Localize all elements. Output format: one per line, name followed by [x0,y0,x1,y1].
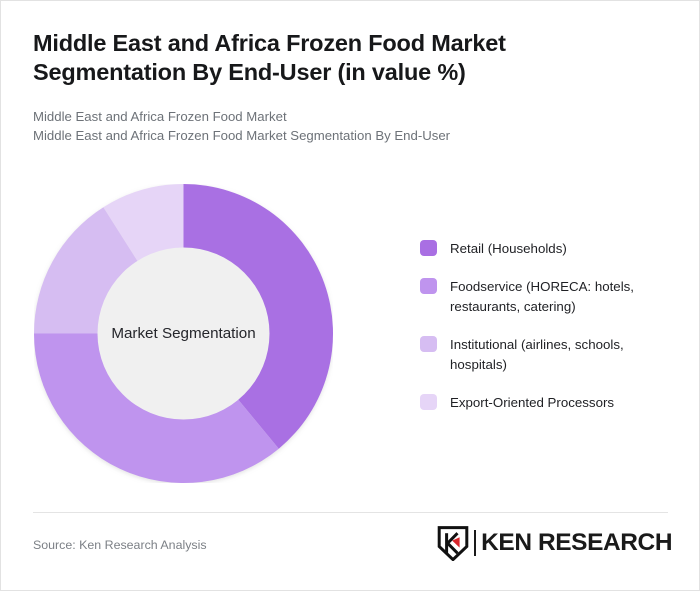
legend-item[interactable]: Institutional (airlines, schools, hospit… [420,335,675,375]
donut-chart: Market Segmentation [34,184,333,483]
legend-swatch-icon [420,278,437,294]
footer-divider [33,512,668,513]
legend-item-label: Foodservice (HORECA: hotels, restaurants… [450,277,675,317]
legend-item[interactable]: Export-Oriented Processors [420,393,675,413]
legend-swatch-icon [420,394,437,410]
chart-subtitle-primary: Middle East and Africa Frozen Food Marke… [33,107,633,126]
chart-header: Middle East and Africa Frozen Food Marke… [33,29,633,145]
donut-chart-svg [34,184,333,483]
legend-item-label: Retail (Households) [450,239,567,259]
legend-item[interactable]: Retail (Households) [420,239,675,259]
legend-swatch-icon [420,336,437,352]
chart-legend: Retail (Households)Foodservice (HORECA: … [420,239,675,413]
ken-research-shield-icon [437,526,469,561]
legend-item-label: Export-Oriented Processors [450,393,614,413]
page-title: Middle East and Africa Frozen Food Marke… [33,29,633,87]
chart-subtitle-secondary: Middle East and Africa Frozen Food Marke… [33,126,633,145]
legend-item-label: Institutional (airlines, schools, hospit… [450,335,675,375]
brand-name: KEN RESEARCH [481,529,672,557]
donut-inner-circle [98,248,270,420]
legend-swatch-icon [420,240,437,256]
chart-card: Middle East and Africa Frozen Food Marke… [0,0,700,591]
brand-logo: KEN RESEARCH [437,525,670,561]
legend-item[interactable]: Foodservice (HORECA: hotels, restaurants… [420,277,675,317]
brand-divider [474,530,476,556]
source-note: Source: Ken Research Analysis [33,538,207,552]
